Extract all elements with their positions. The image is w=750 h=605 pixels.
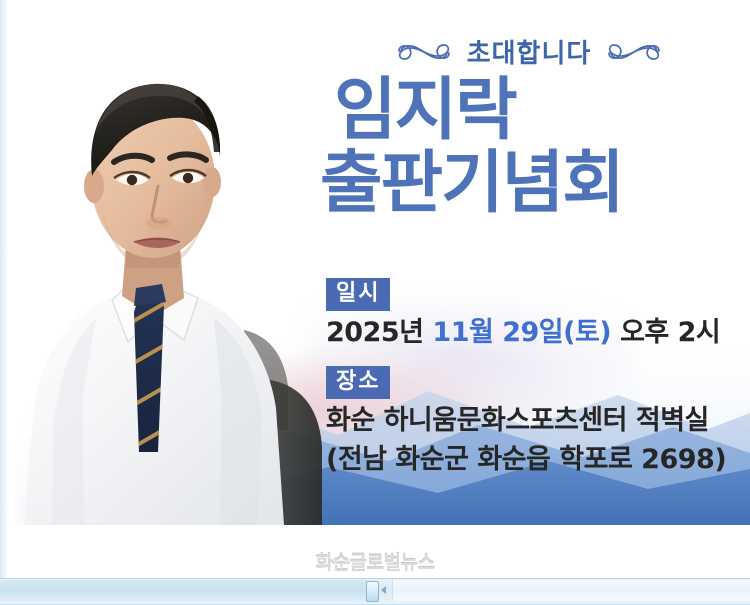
flourish-ornament-icon — [397, 39, 451, 65]
scrollbar-arrow-right-icon[interactable] — [381, 586, 386, 594]
portrait-photo — [8, 0, 328, 525]
source-watermark: 화순글로벌뉴스 — [0, 548, 750, 575]
horizontal-scrollbar[interactable] — [0, 578, 750, 605]
scrollbar-track-right[interactable] — [392, 580, 750, 601]
date-info-block: 일시 2025년 11월 29일(토) 오후 2시 — [326, 278, 750, 350]
event-poster: 초대합니다 임지락 출판기념회 일시 2025년 — [8, 0, 750, 525]
poster-title: 임지락 출판기념회 — [320, 78, 750, 217]
title-line-name: 임지락 — [320, 78, 750, 145]
address-text: (전남 화순군 화순읍 학포로 2698) — [326, 443, 750, 477]
date-year: 2025년 — [326, 317, 424, 348]
date-text: 2025년 11월 29일(토) 오후 2시 — [326, 316, 750, 350]
left-gutter — [0, 0, 8, 578]
venue-text: 화순 하니움문화스포츠센터 적벽실 — [326, 404, 750, 438]
date-time: 오후 2시 — [620, 317, 720, 348]
invitation-text: 초대합니다 — [467, 33, 592, 70]
title-line-event: 출판기념회 — [320, 151, 750, 218]
place-badge: 장소 — [326, 366, 390, 399]
scrollbar-thumb[interactable] — [366, 581, 379, 602]
place-info-block: 장소 화순 하니움문화스포츠센터 적벽실 (전남 화순군 화순읍 학포로 269… — [326, 366, 750, 477]
poster-content: 초대합니다 임지락 출판기념회 일시 2025년 — [308, 0, 750, 525]
image-viewer: 초대합니다 임지락 출판기념회 일시 2025년 — [0, 0, 750, 603]
invitation-header: 초대합니다 — [308, 33, 750, 70]
scrollbar-track-left[interactable] — [0, 580, 368, 601]
date-highlight: 11월 29일(토) — [432, 317, 611, 348]
date-badge: 일시 — [326, 278, 390, 311]
flourish-ornament-icon — [607, 39, 661, 65]
